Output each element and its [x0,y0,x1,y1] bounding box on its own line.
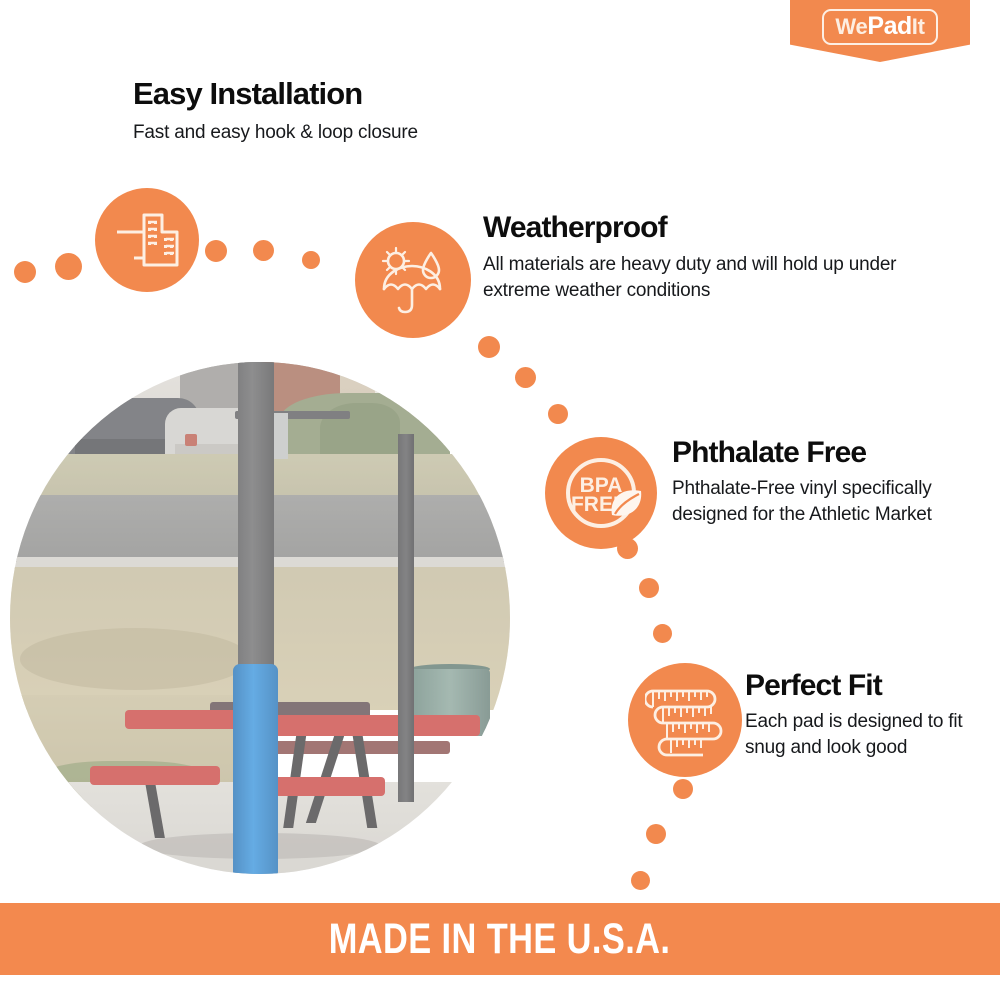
feature-description: All materials are heavy duty and will ho… [483,252,913,306]
trail-dot [646,824,666,844]
feature-block-perfect-fit: Perfect Fit Each pad is designed to fit … [745,670,985,762]
trail-dot [653,624,672,643]
measuring-tape-icon [628,663,742,777]
feature-block-phthalate-free: Phthalate Free Phthalate-Free vinyl spec… [672,437,972,529]
sun-umbrella-raindrop-icon [355,222,471,338]
product-photo-circle [10,362,510,874]
trail-dot [631,871,650,890]
trail-dot [515,367,536,388]
building-installation-icon [95,188,199,292]
trail-dot [302,251,320,269]
trail-dot [14,261,36,283]
marketing-infographic: We Pad It [0,0,1000,987]
trail-dot [55,253,82,280]
trail-dot [639,578,659,598]
feature-description: Phthalate-Free vinyl specifically design… [672,476,972,530]
product-photo [10,362,510,874]
feature-description: Fast and easy hook & loop closure [133,120,563,147]
made-in-usa-banner: MADE IN THE U.S.A. [0,903,1000,975]
feature-description: Each pad is designed to fit snug and loo… [745,709,985,763]
logo-frame: We Pad It [822,9,937,45]
feature-title: Weatherproof [483,212,913,244]
feature-title: Easy Installation [133,78,563,111]
trail-dot [673,779,693,799]
trail-dot [548,404,568,424]
trail-dot [253,240,274,261]
logo-text-it: It [912,16,925,38]
feature-title: Phthalate Free [672,437,972,469]
made-in-usa-text: MADE IN THE U.S.A. [329,915,671,964]
logo-text-we: We [835,16,867,38]
feature-block-weatherproof: Weatherproof All materials are heavy dut… [483,212,913,305]
bpa-free-leaf-icon: BPA FREE [545,437,657,549]
feature-block-easy-installation: Easy Installation Fast and easy hook & l… [133,78,563,147]
trail-dot [205,240,227,262]
wepadit-logo[interactable]: We Pad It [790,0,970,62]
trail-dot [478,336,500,358]
feature-title: Perfect Fit [745,670,985,702]
logo-text-pad: Pad [867,14,911,39]
